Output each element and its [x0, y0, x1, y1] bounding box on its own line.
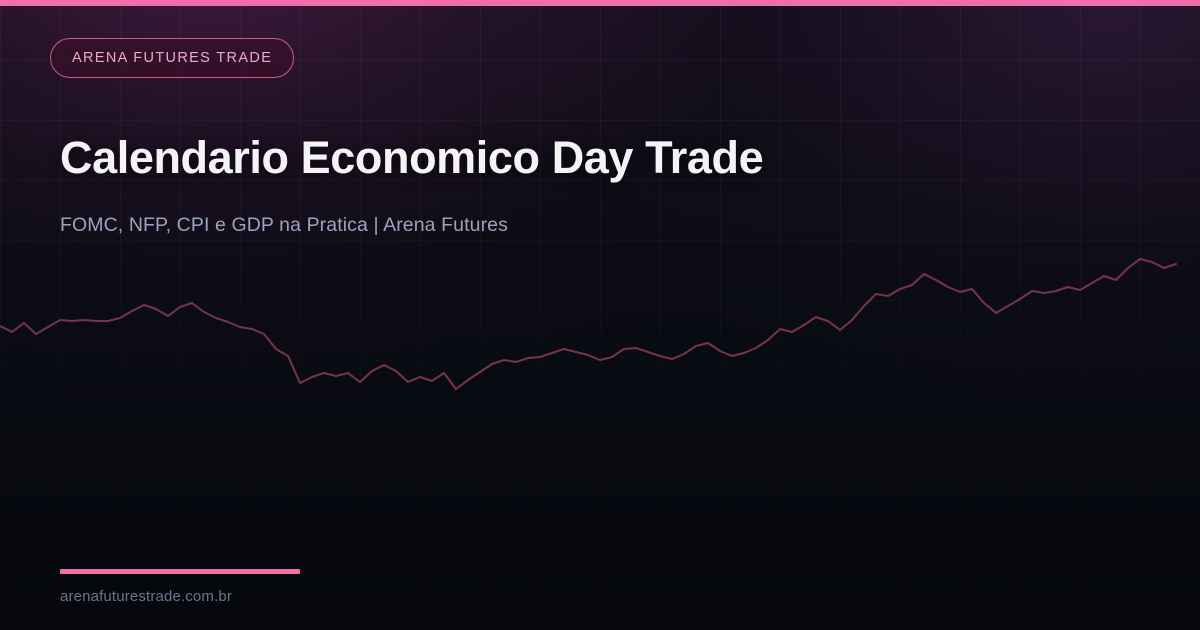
- top-accent-bar: [0, 0, 1200, 6]
- background-grid-fade: [0, 0, 1200, 630]
- headline-block: Calendario Economico Day Trade FOMC, NFP…: [60, 133, 1120, 237]
- brand-badge-label: ARENA FUTURES TRADE: [72, 50, 272, 66]
- brand-badge: ARENA FUTURES TRADE: [50, 38, 294, 78]
- og-card: ARENA FUTURES TRADE Calendario Economico…: [0, 0, 1200, 630]
- page-subtitle: FOMC, NFP, CPI e GDP na Pratica | Arena …: [60, 183, 1120, 237]
- page-title: Calendario Economico Day Trade: [60, 133, 1120, 183]
- footer-block: arenafuturestrade.com.br: [60, 569, 300, 605]
- footer-domain-label: arenafuturestrade.com.br: [60, 574, 300, 605]
